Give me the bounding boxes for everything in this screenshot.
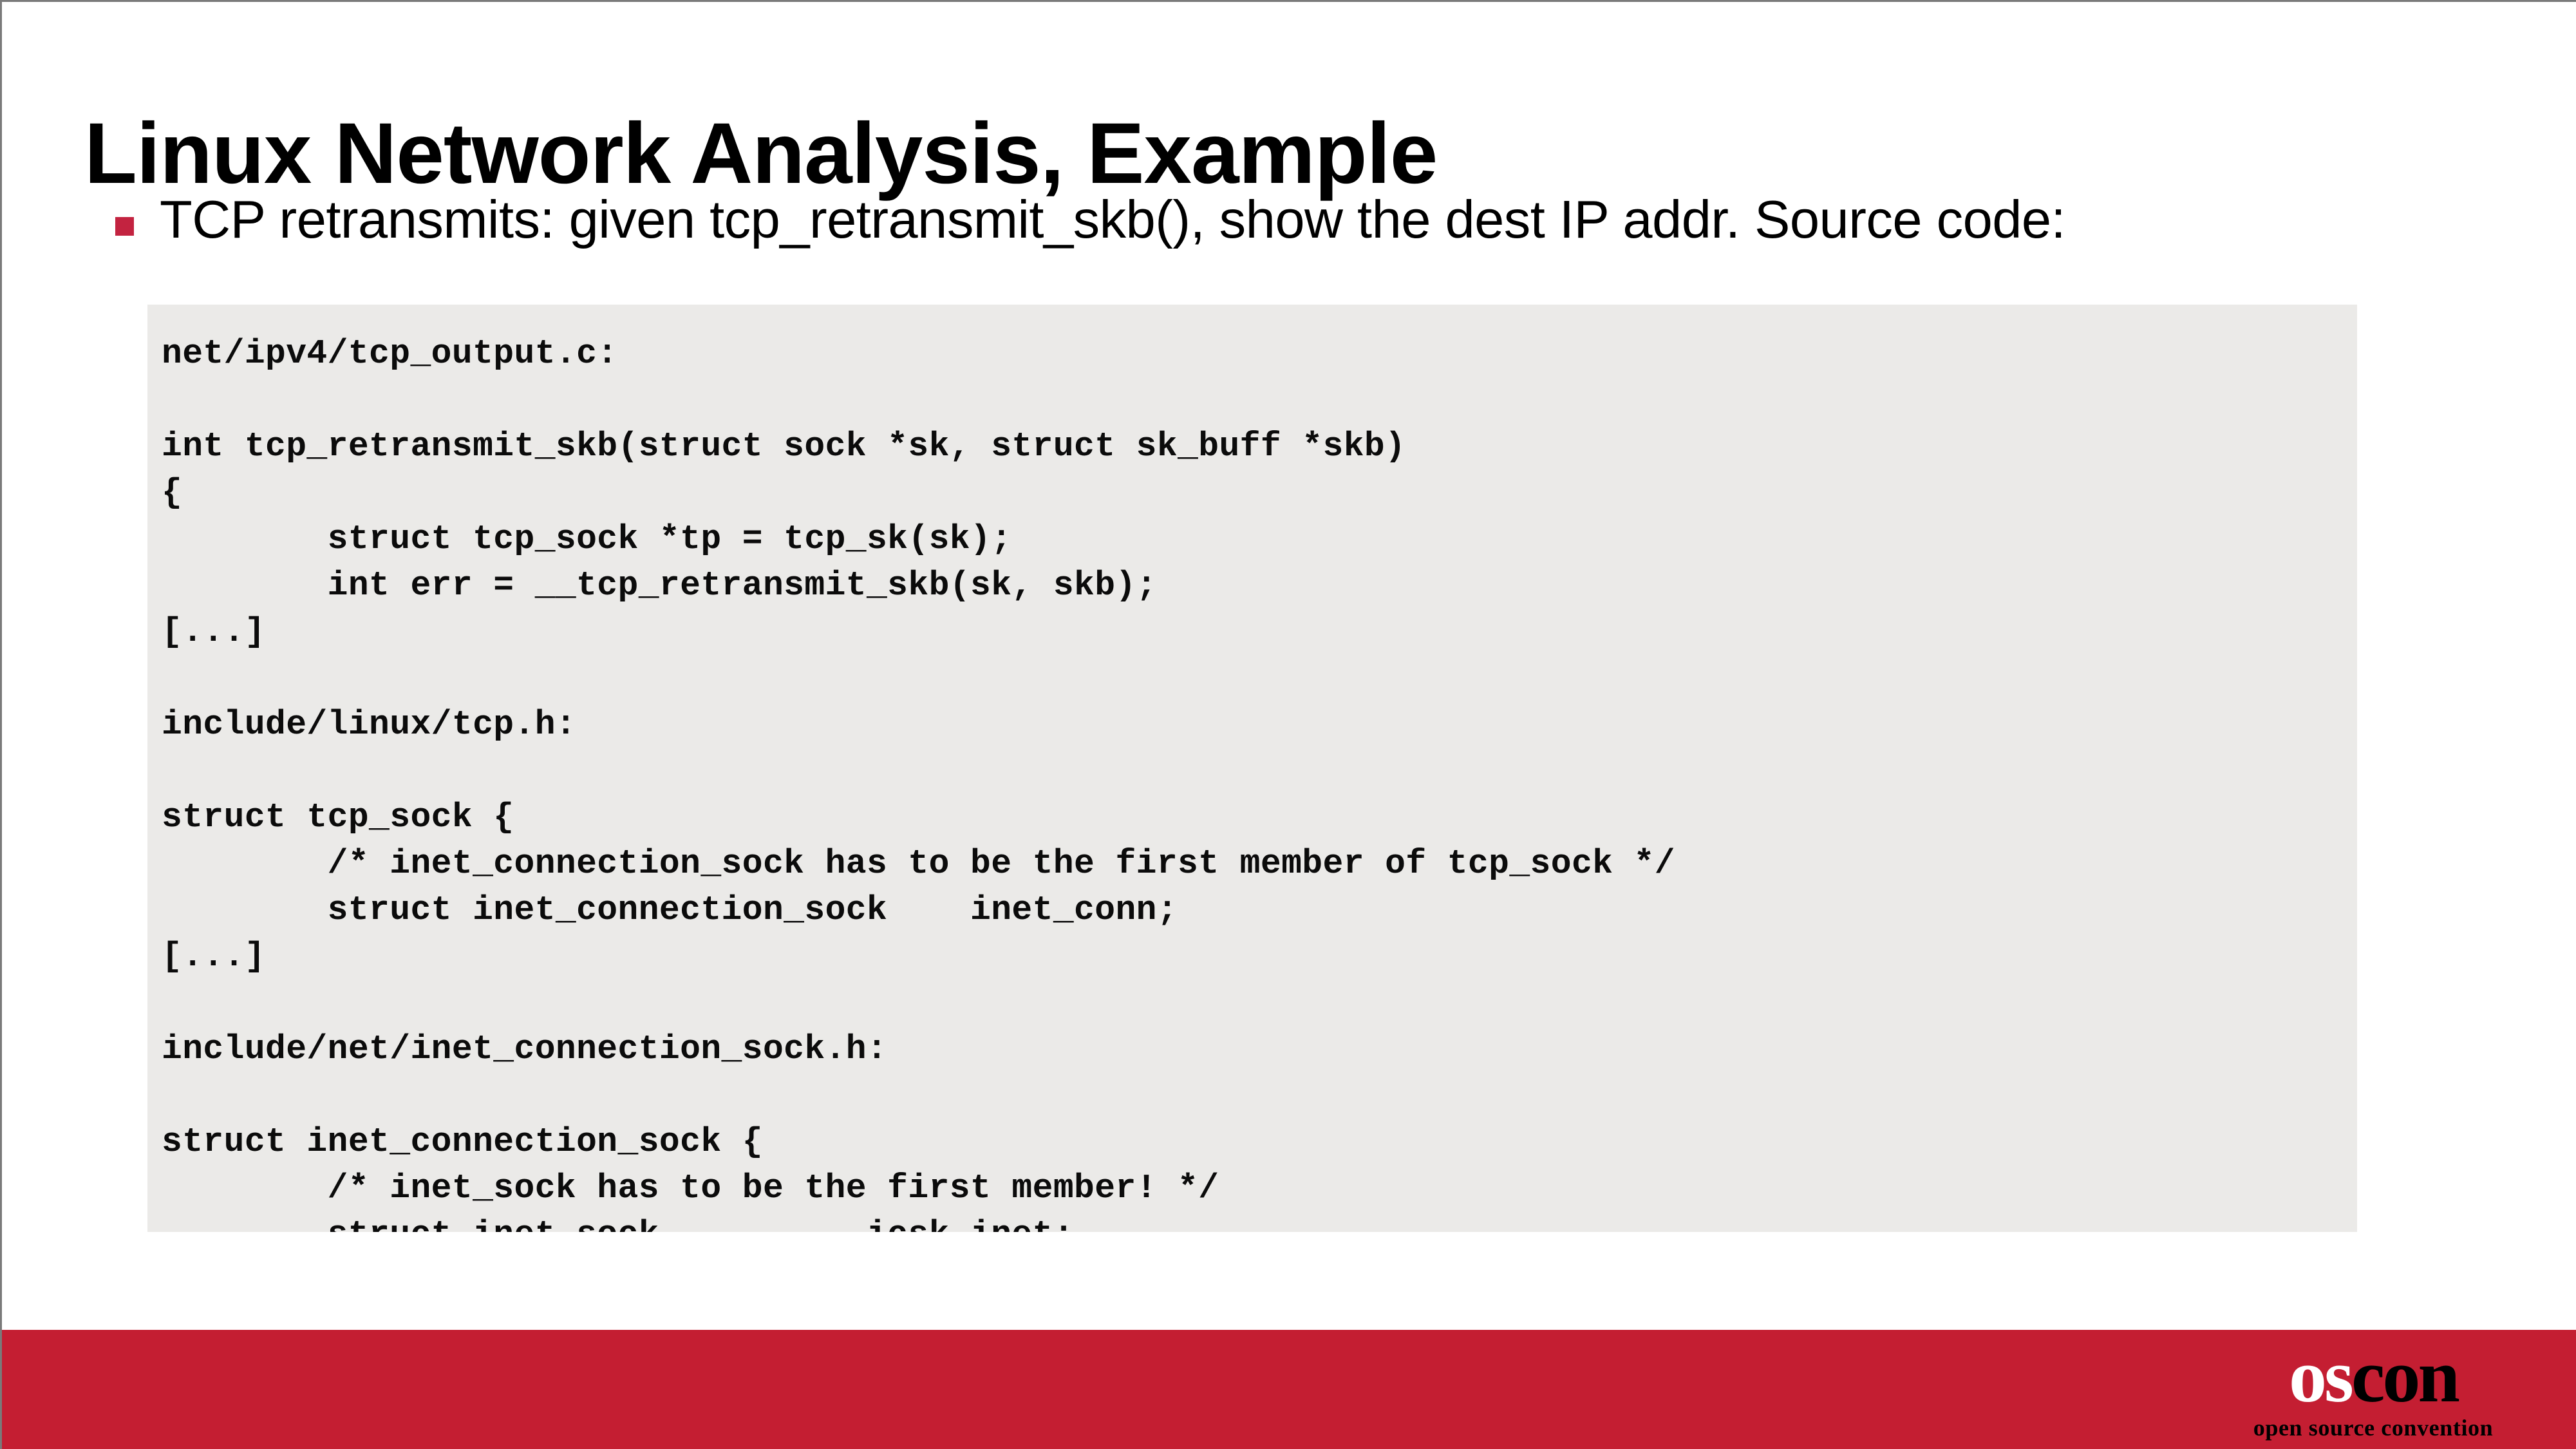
oscon-logo: oscon open source convention bbox=[2206, 1340, 2541, 1439]
code-line bbox=[162, 748, 2357, 794]
oscon-wordmark-light: os bbox=[2289, 1334, 2351, 1418]
code-line bbox=[162, 980, 2357, 1026]
code-line: struct tcp_sock { bbox=[162, 794, 2357, 840]
code-line: struct tcp_sock *tp = tcp_sk(sk); bbox=[162, 516, 2357, 562]
footer-band bbox=[2, 1330, 2576, 1449]
code-line bbox=[162, 1072, 2357, 1119]
bullet-square-icon bbox=[115, 217, 134, 236]
code-line: /* inet_connection_sock has to be the fi… bbox=[162, 840, 2357, 887]
code-line: { bbox=[162, 469, 2357, 516]
code-line: [...] bbox=[162, 609, 2357, 655]
bullet-list-item: TCP retransmits: given tcp_retransmit_sk… bbox=[115, 193, 2065, 246]
oscon-tagline: open source convention bbox=[2206, 1416, 2541, 1439]
code-line: int tcp_retransmit_skb(struct sock *sk, … bbox=[162, 423, 2357, 469]
code-line bbox=[162, 655, 2357, 701]
oscon-wordmark-dark: con bbox=[2351, 1334, 2458, 1418]
code-line: int err = __tcp_retransmit_skb(sk, skb); bbox=[162, 562, 2357, 609]
code-line: struct inet_connection_sock { bbox=[162, 1119, 2357, 1165]
page-title: Linux Network Analysis, Example bbox=[84, 110, 1437, 198]
bullet-item-label: TCP retransmits: given tcp_retransmit_sk… bbox=[160, 193, 2065, 246]
code-line: include/linux/tcp.h: bbox=[162, 701, 2357, 748]
code-line: struct inet_sock icsk_inet; bbox=[162, 1211, 2357, 1232]
slide-canvas: Linux Network Analysis, Example TCP retr… bbox=[0, 0, 2576, 1449]
code-line: include/net/inet_connection_sock.h: bbox=[162, 1026, 2357, 1072]
oscon-wordmark: oscon bbox=[2206, 1340, 2541, 1412]
code-line: struct inet_connection_sock inet_conn; bbox=[162, 887, 2357, 933]
code-line bbox=[162, 377, 2357, 423]
code-line: [...] bbox=[162, 933, 2357, 980]
code-line: /* inet_sock has to be the first member!… bbox=[162, 1165, 2357, 1211]
source-code-block: net/ipv4/tcp_output.c: int tcp_retransmi… bbox=[147, 305, 2357, 1232]
code-line: net/ipv4/tcp_output.c: bbox=[162, 330, 2357, 377]
